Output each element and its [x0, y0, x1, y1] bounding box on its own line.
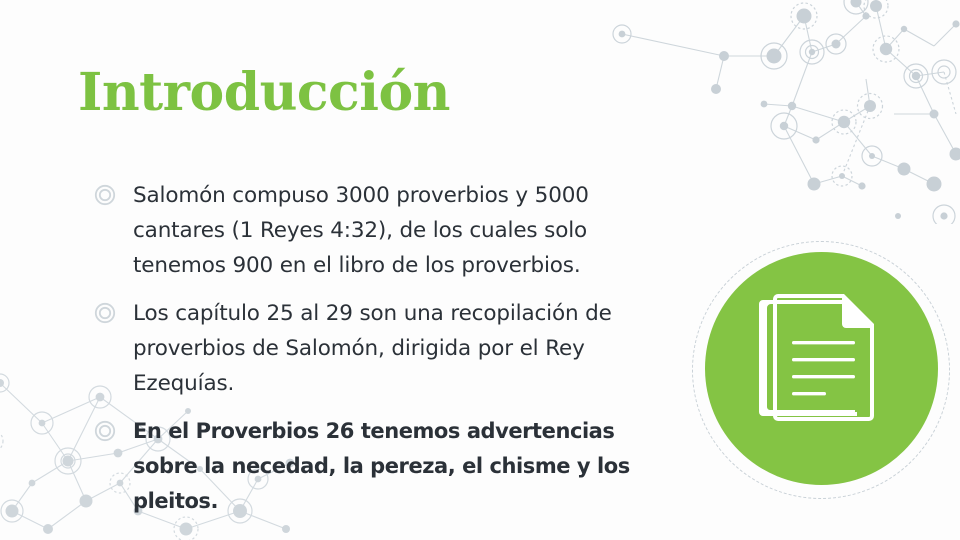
graphic-badge [692, 241, 950, 499]
list-item-text: Salomón compuso 3000 proverbios y 5000 c… [133, 178, 669, 283]
list-item-text: Los capítulo 25 al 29 son una recopilaci… [133, 296, 669, 401]
page-title: Introducción [78, 64, 450, 121]
bullet-list: Salomón compuso 3000 proverbios y 5000 c… [94, 178, 669, 519]
list-item: Los capítulo 25 al 29 son una recopilaci… [94, 296, 669, 401]
double-ring-bullet-icon [94, 302, 116, 324]
slide: Introducción Salomón compuso 3000 prover… [0, 0, 960, 540]
double-ring-bullet-icon [94, 184, 116, 206]
list-item-text: En el Proverbios 26 tenemos advertencias… [133, 414, 669, 519]
list-item: En el Proverbios 26 tenemos advertencias… [94, 414, 669, 519]
double-ring-bullet-icon [94, 420, 116, 442]
documents-icon [754, 289, 890, 429]
list-item: Salomón compuso 3000 proverbios y 5000 c… [94, 178, 669, 283]
